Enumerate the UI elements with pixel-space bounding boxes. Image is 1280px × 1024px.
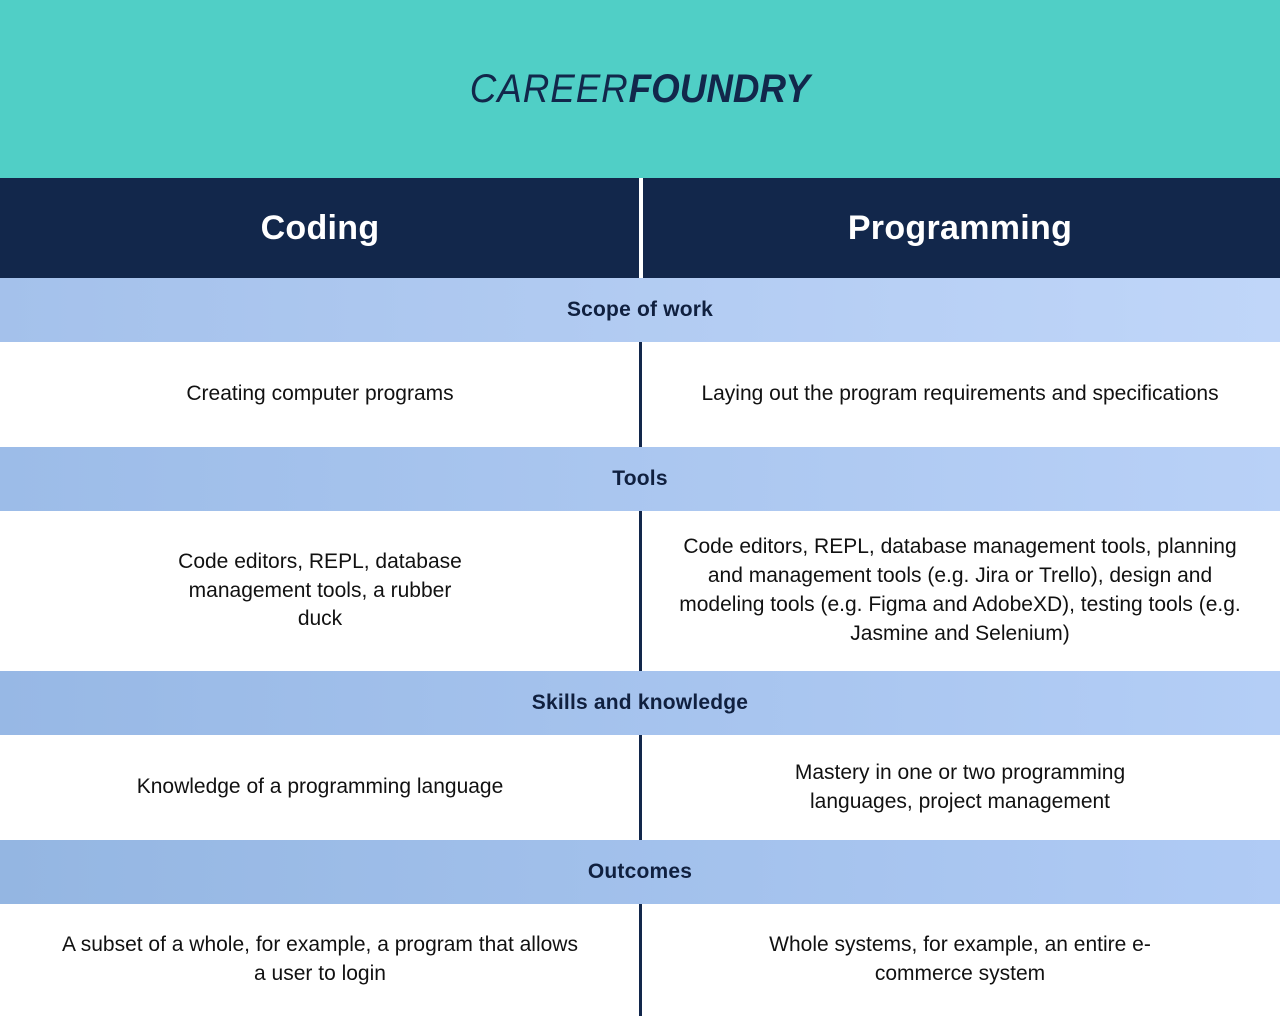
section-band-tools: Tools — [0, 447, 1280, 511]
logo-text-foundry: FOUNDRY — [629, 67, 810, 111]
content-row-skills-and-knowledge: Knowledge of a programming language Mast… — [0, 735, 1280, 840]
column-header-row: Coding Programming — [0, 178, 1280, 278]
column-header-coding-label: Coding — [261, 209, 380, 248]
row-column-divider — [639, 735, 642, 840]
logo-text-career: CAREER — [470, 67, 629, 111]
section-label-outcomes: Outcomes — [588, 860, 692, 884]
cell-coding-tools: Code editors, REPL, database management … — [0, 511, 640, 671]
content-row-scope-of-work: Creating computer programs Laying out th… — [0, 342, 1280, 447]
section-label-skills-and-knowledge: Skills and knowledge — [532, 691, 748, 715]
cell-coding-skills-and-knowledge: Knowledge of a programming language — [0, 735, 640, 840]
section-band-scope-of-work: Scope of work — [0, 278, 1280, 342]
row-column-divider — [639, 342, 642, 447]
cell-programming-tools: Code editors, REPL, database management … — [640, 511, 1280, 671]
cell-coding-outcomes: A subset of a whole, for example, a prog… — [0, 904, 640, 1016]
cell-programming-outcomes: Whole systems, for example, an entire e-… — [640, 904, 1280, 1016]
section-label-scope-of-work: Scope of work — [567, 298, 713, 322]
comparison-table-body: Scope of work Creating computer programs… — [0, 278, 1280, 1016]
column-header-programming: Programming — [640, 178, 1280, 278]
cell-coding-scope-of-work: Creating computer programs — [0, 342, 640, 447]
cell-programming-skills-and-knowledge: Mastery in one or two programming langua… — [640, 735, 1280, 840]
row-column-divider — [639, 904, 642, 1016]
section-band-outcomes: Outcomes — [0, 840, 1280, 904]
row-column-divider — [639, 511, 642, 671]
column-header-coding: Coding — [0, 178, 640, 278]
section-label-tools: Tools — [612, 467, 667, 491]
section-band-skills-and-knowledge: Skills and knowledge — [0, 671, 1280, 735]
comparison-infographic: CAREERFOUNDRY Coding Programming Scope o… — [0, 0, 1280, 1024]
column-header-programming-label: Programming — [848, 209, 1072, 248]
brand-banner: CAREERFOUNDRY — [0, 0, 1280, 178]
header-column-divider — [639, 178, 643, 278]
careerfoundry-logo: CAREERFOUNDRY — [470, 67, 810, 112]
content-row-tools: Code editors, REPL, database management … — [0, 511, 1280, 671]
content-row-outcomes: A subset of a whole, for example, a prog… — [0, 904, 1280, 1016]
cell-programming-scope-of-work: Laying out the program requirements and … — [640, 342, 1280, 447]
